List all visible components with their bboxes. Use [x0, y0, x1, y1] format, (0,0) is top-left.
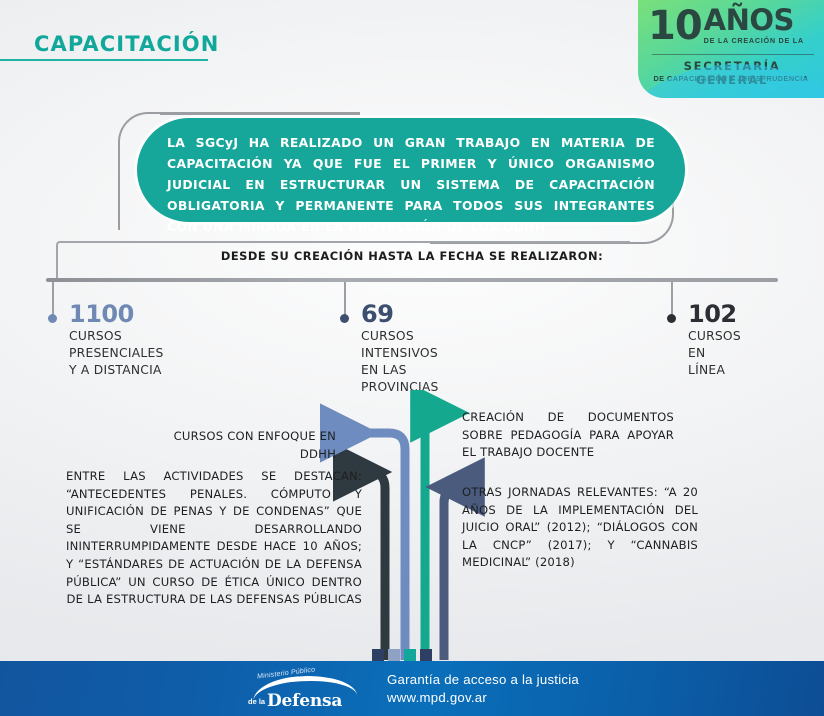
- stat-caption: CURSOS EN LÍNEA: [688, 328, 741, 379]
- stat-value: 102: [688, 302, 737, 326]
- stats-axis-bar: [46, 278, 778, 282]
- footer-color-squares: [372, 649, 432, 661]
- logo-headline: 10 AÑOS DE LA CREACIÓN DE LA: [648, 6, 816, 45]
- stat-caption: CURSOS PRESENCIALES Y A DISTANCIA: [69, 328, 164, 379]
- infographic-page: CAPACITACIÓN 10 AÑOS DE LA CREACIÓN DE L…: [0, 0, 824, 716]
- logo-anios-label: AÑOS: [704, 6, 804, 35]
- stat-dot: [340, 314, 349, 323]
- jornadas-text-block: OTRAS JORNADAS RELEVANTES: “A 20 AÑOS DE…: [462, 484, 698, 572]
- footer-square: [388, 649, 400, 661]
- highlight-callout: LA SGCyJ HA REALIZADO UN GRAN TRABAJO EN…: [137, 118, 685, 222]
- footer-square: [420, 649, 432, 661]
- since-creation-label: DESDE SU CREACIÓN HASTA LA FECHA SE REAL…: [0, 249, 824, 263]
- mpd-logo: Ministerio Público de la Defensa: [245, 669, 361, 709]
- mpd-dela-label: de la: [248, 697, 265, 706]
- footer-tagline: Garantía de acceso a la justicia: [387, 672, 579, 687]
- logo-capacitacion-label: DE CAPACITACIÓN Y JURISPRUDENCIA: [646, 74, 816, 83]
- arrow-destacan: [358, 472, 385, 660]
- stat-dot: [667, 314, 676, 323]
- stat-value: 1100: [69, 302, 134, 326]
- bracket-frame-step-top: [88, 241, 630, 243]
- stat-caption: CURSOS INTENSIVOS EN LAS PROVINCIAS: [361, 328, 439, 396]
- stat-connector-line: [52, 282, 54, 316]
- footer-square: [372, 649, 384, 661]
- page-title: CAPACITACIÓN: [34, 32, 219, 56]
- title-underline: [0, 59, 208, 61]
- footer-square: [404, 649, 416, 661]
- logo-number: 10: [648, 7, 702, 45]
- stat-value: 69: [361, 302, 393, 326]
- footer-bar: Ministerio Público de la Defensa Garantí…: [0, 661, 824, 716]
- mpd-defensa-label: Defensa: [267, 691, 342, 711]
- bracket-frame-left-top: [160, 112, 360, 115]
- stat-dot: [48, 314, 57, 323]
- logo-secretaria-label: SECRETARÍA GENERAL: [648, 59, 816, 87]
- logo-divider: [652, 54, 814, 55]
- stat-connector-line: [344, 282, 346, 316]
- callout-text: LA SGCyJ HA REALIZADO UN GRAN TRABAJO EN…: [167, 132, 655, 237]
- logo-creation-label: DE LA CREACIÓN DE LA: [704, 36, 804, 45]
- arrow-jornadas-head: [444, 487, 460, 660]
- destacan-text-block: ENTRE LAS ACTIVIDADES SE DESTACAN: “ANTE…: [66, 468, 362, 609]
- footer-url[interactable]: www.mpd.gov.ar: [387, 690, 579, 705]
- ddhh-label: CURSOS CON ENFOQUE EN DDHH: [150, 428, 336, 463]
- pedagogia-text-block: CREACIÓN DE DOCUMENTOS SOBRE PEDAGOGÍA P…: [462, 409, 674, 462]
- stat-connector-line: [671, 282, 673, 316]
- anniversary-logo: 10 AÑOS DE LA CREACIÓN DE LA SECRETARÍA …: [638, 0, 824, 98]
